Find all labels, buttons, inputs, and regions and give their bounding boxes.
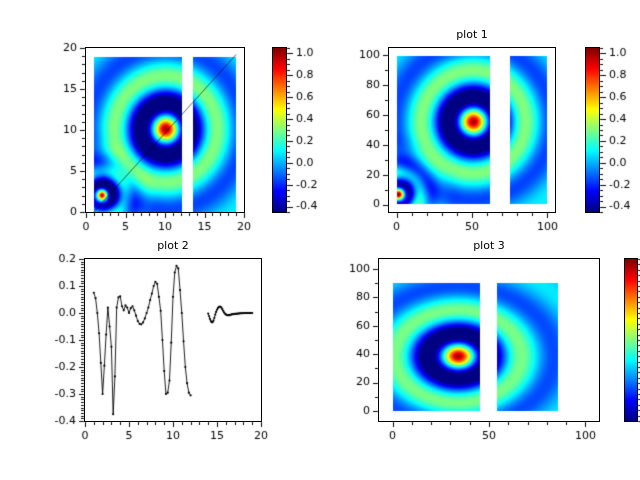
plot0-colorbar-gradient (273, 48, 286, 212)
plot0-colorbar[interactable] (272, 47, 287, 213)
plot2-series (85, 259, 261, 421)
plot3-image (379, 259, 599, 421)
plot3-colorbar-gradient (625, 259, 637, 421)
plot1-colorbar-gradient (586, 48, 599, 212)
plot1-image (389, 48, 555, 212)
plot1-colorbar[interactable] (585, 47, 600, 213)
plot0-image (86, 48, 244, 212)
plot1-axes[interactable] (388, 47, 556, 213)
plot3-colorbar[interactable] (624, 258, 638, 422)
figure-canvas: plot 1 plot 2 plot 3 (0, 0, 640, 480)
plot3-axes[interactable] (378, 258, 600, 422)
plot3-title: plot 3 (378, 239, 600, 252)
plot2-axes[interactable] (84, 258, 262, 422)
plot1-title: plot 1 (388, 28, 556, 41)
plot2-title: plot 2 (84, 239, 262, 252)
plot0-axes[interactable] (85, 47, 245, 213)
